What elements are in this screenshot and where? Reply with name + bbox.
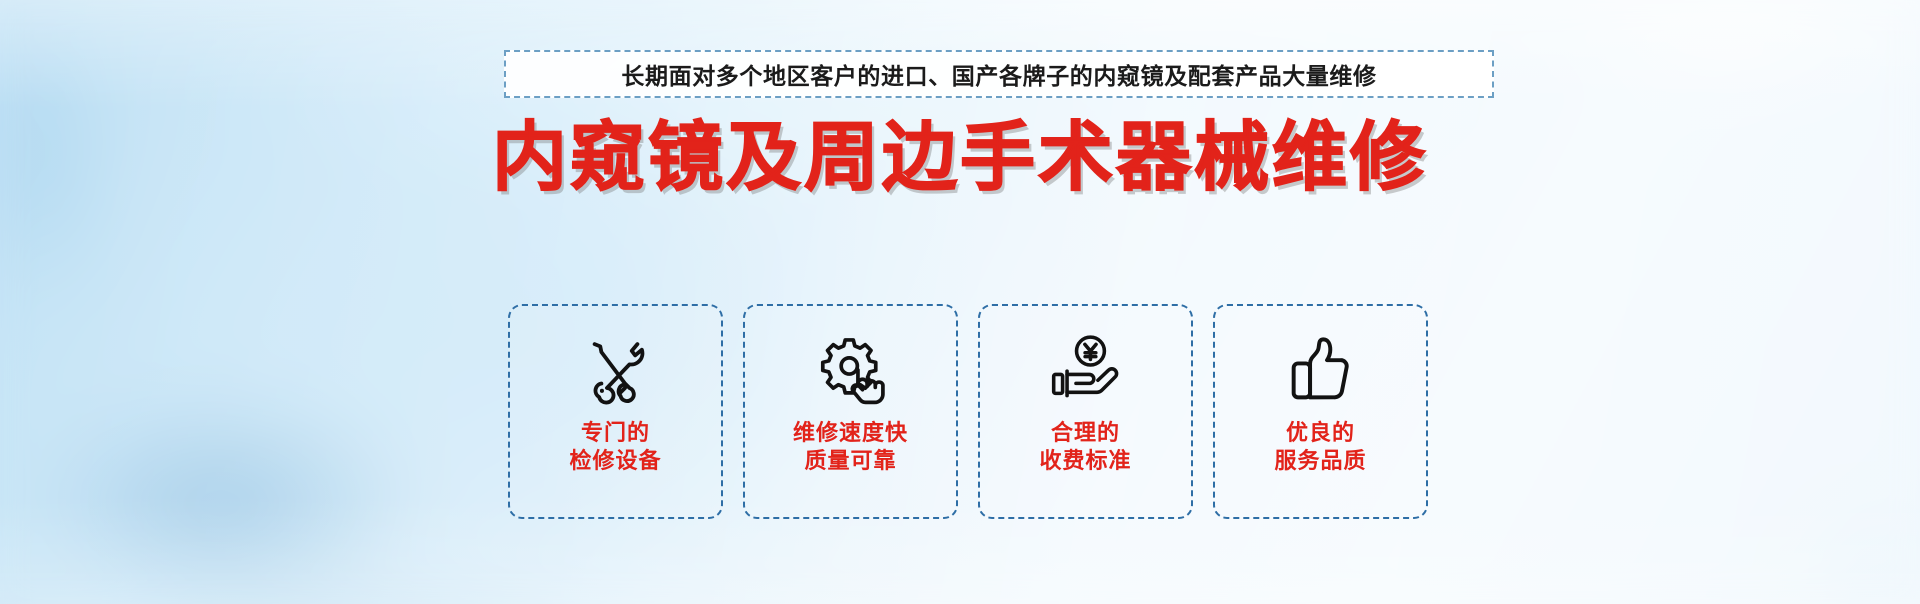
- feature-card-line2: 检修设备: [569, 448, 661, 476]
- feature-card-quality[interactable]: 优良的 服务品质: [1213, 304, 1428, 519]
- feature-card-line1: 优良的: [1274, 420, 1366, 448]
- feature-card-label: 优良的 服务品质: [1274, 420, 1366, 475]
- banner-content: 长期面对多个地区客户的进口、国产各牌子的内窥镜及配套产品大量维修 内窥镜及周边手…: [0, 0, 1920, 604]
- thumbs-up-icon: [1286, 330, 1356, 410]
- feature-card-line1: 维修速度快: [793, 420, 908, 448]
- gear-hand-cursor-icon: [814, 330, 888, 410]
- hand-holding-yuan-coin-icon: [1047, 330, 1125, 410]
- subtitle-text: 长期面对多个地区客户的进口、国产各牌子的内窥镜及配套产品大量维修: [621, 57, 1376, 91]
- page-title: 内窥镜及周边手术器械维修: [0, 120, 1920, 195]
- screwdriver-wrench-icon: [580, 330, 652, 410]
- feature-card-label: 维修速度快 质量可靠: [793, 420, 908, 475]
- feature-card-line1: 专门的: [569, 420, 661, 448]
- feature-card-line2: 收费标准: [1039, 448, 1131, 476]
- feature-card-speed[interactable]: 维修速度快 质量可靠: [743, 304, 958, 519]
- feature-card-label: 专门的 检修设备: [569, 420, 661, 475]
- feature-card-equipment[interactable]: 专门的 检修设备: [508, 304, 723, 519]
- feature-card-price[interactable]: 合理的 收费标准: [978, 304, 1193, 519]
- feature-card-list: 专门的 检修设备 维修速度快 质量可靠: [508, 304, 1428, 519]
- feature-card-line1: 合理的: [1039, 420, 1131, 448]
- feature-card-line2: 服务品质: [1274, 448, 1366, 476]
- subtitle-banner: 长期面对多个地区客户的进口、国产各牌子的内窥镜及配套产品大量维修: [504, 50, 1494, 98]
- feature-card-label: 合理的 收费标准: [1039, 420, 1131, 475]
- feature-card-line2: 质量可靠: [793, 448, 908, 476]
